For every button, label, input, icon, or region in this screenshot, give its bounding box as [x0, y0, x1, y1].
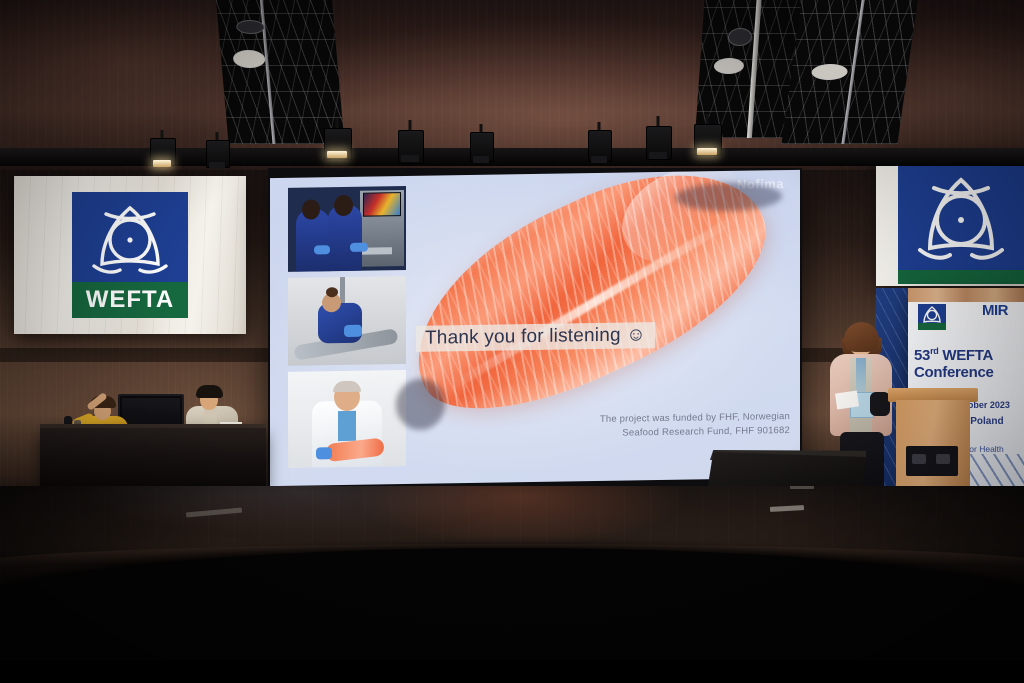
presenter-handheld-item	[870, 392, 890, 416]
conference-title-line-1: 53rd WEFTA	[914, 346, 993, 364]
wefta-banner-right	[876, 150, 1024, 286]
lectern-button-right[interactable]	[936, 454, 950, 464]
slide-headline: Thank you for listening ☺	[416, 322, 655, 352]
blue-glove	[344, 325, 362, 337]
presenter-lanyard	[856, 358, 866, 394]
stage-light-7	[150, 130, 174, 170]
floor-marking-tape-3	[790, 486, 814, 489]
wefta-nameplate-green-band	[898, 270, 1024, 284]
moderator-desk	[40, 428, 266, 486]
wefta-triquetra-fish-icon	[72, 192, 188, 282]
conference-org: WEFTA	[939, 347, 994, 364]
fillet-tail-tip	[396, 379, 445, 431]
presenter-notes	[835, 391, 859, 410]
projection-screen: Nofima	[268, 168, 802, 490]
stage-light-1	[324, 118, 350, 162]
blue-glove-a	[314, 245, 330, 254]
conference-number-suffix: rd	[930, 346, 938, 356]
orchestra-pit-shadow	[0, 660, 1024, 683]
stage-light-6	[694, 114, 720, 162]
wefta-banner-left: WEFTA	[14, 176, 246, 334]
lectern-button-left[interactable]	[912, 454, 926, 464]
panelist-b-glasses-icon	[201, 397, 218, 402]
stage-light-4	[588, 122, 610, 164]
auditorium-photo-scene: WEFTA Nofima	[0, 0, 1024, 683]
wefta-nameplate: WEFTA	[72, 282, 188, 318]
lectern-body	[896, 400, 970, 500]
scientist-hair	[333, 381, 361, 392]
wefta-logo: WEFTA	[72, 192, 188, 318]
blue-shirt	[338, 411, 356, 441]
conference-title-line-2: Conference	[914, 364, 994, 381]
slide-funding-note: The project was funded by FHF, Norwegian…	[600, 410, 790, 441]
stage-light-2	[398, 120, 422, 164]
mir-partner-logo: MIR	[982, 302, 1022, 324]
blue-glove-b	[350, 243, 368, 252]
presenter-hair	[844, 322, 879, 352]
ceiling-fixture	[236, 20, 265, 34]
wefta-small-green-band	[918, 323, 946, 330]
blue-glove	[316, 447, 332, 459]
gdansk-skyline-photo	[908, 288, 1024, 302]
roof-truss-icon	[781, 0, 918, 144]
ceiling-slot-right	[781, 0, 918, 144]
wefta-logo-small-icon	[918, 304, 946, 330]
stage-light-3	[470, 124, 492, 164]
wefta-triquetra-fish-icon	[898, 162, 1024, 270]
stage-light-8	[206, 132, 228, 170]
stage-light-5	[646, 116, 670, 162]
lectern-control-panel[interactable]	[906, 446, 958, 476]
presentation-slide: Nofima	[270, 170, 800, 486]
wefta-banner-label: WEFTA	[86, 288, 175, 312]
conference-number: 53	[914, 347, 930, 364]
ceiling-speaker-box	[232, 50, 266, 68]
